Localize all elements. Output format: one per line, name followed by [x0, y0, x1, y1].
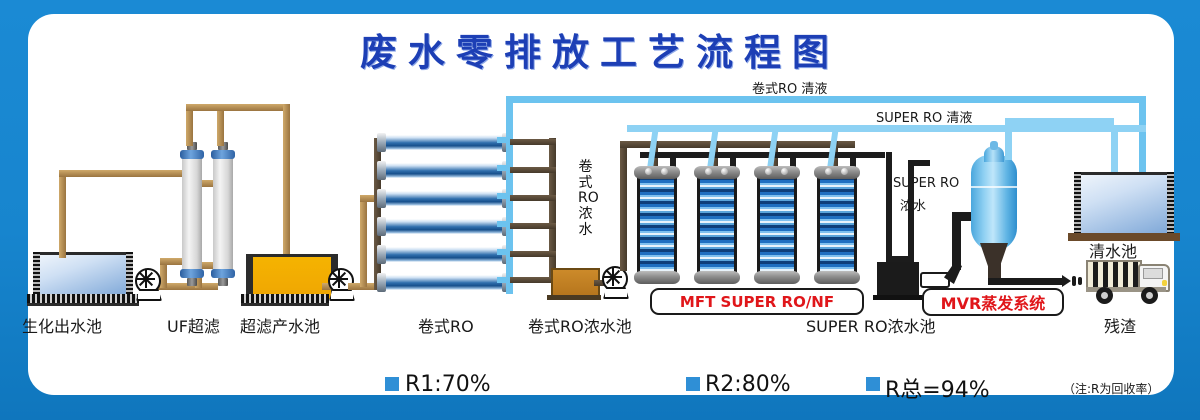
tank-rib-right [126, 252, 133, 296]
tank-rib-right [1167, 172, 1174, 234]
tank-rib-left [1074, 172, 1081, 234]
ro-vessel-3 [381, 191, 507, 206]
bio-effluent-tank-base [27, 294, 139, 306]
uf-product-tank-base [241, 294, 329, 306]
mft-bolt [645, 168, 652, 175]
uf-cap-top [211, 150, 235, 159]
ro-concentrate-branch-6 [510, 277, 556, 283]
legend-note: （注:R为回收率） [1063, 380, 1159, 397]
label-uf-ultrafiltration: UF超滤 [167, 313, 220, 337]
mft-bottom-plate [754, 271, 800, 284]
label-spiral-ro-concentrate-tank: 卷式RO浓水池 [528, 313, 632, 337]
mft-bolt [825, 168, 832, 175]
tank-body [1074, 172, 1174, 234]
residue-arrow-chevron [1072, 276, 1076, 286]
ro-vessel-1 [381, 135, 507, 150]
mft-disc-stack [817, 177, 857, 273]
residue-arrow-chevron [1078, 277, 1082, 285]
spiral-ro-permeate-label: 卷式RO 清液 [752, 78, 827, 97]
ro-vessel-4 [381, 219, 507, 234]
spiral-ro-concentrate-tank-base [547, 295, 601, 300]
super-ro-concentrate-tank [877, 262, 919, 296]
label-bio-effluent-tank: 生化出水池 [22, 313, 102, 337]
clean-water-tank [1074, 172, 1174, 234]
pipe-uf-permeate-downcomer [283, 104, 290, 254]
truck-window [1143, 268, 1163, 279]
mft-bolt [765, 168, 772, 175]
pump-base [136, 289, 162, 301]
ro-permeate-tap-3 [497, 193, 511, 199]
ro-concentrate-branch-3 [510, 195, 556, 201]
legend-text-r1: R1:70% [405, 372, 491, 397]
uf-nozzle-bottom [218, 278, 228, 286]
mft-disc-stack [757, 177, 797, 273]
mft-disc-stack [697, 177, 737, 273]
mft-bolt [661, 168, 668, 175]
mft-bolt [841, 168, 848, 175]
truck-headlight [1162, 280, 1167, 286]
mft-column-2 [694, 166, 740, 284]
uf-module-2 [213, 140, 233, 288]
uf-product-water-tank [246, 254, 338, 299]
mft-bolt [781, 168, 788, 175]
mvr-evaporator-nozzle [990, 141, 998, 150]
pipe-bio-to-uf-riser [59, 170, 66, 258]
uf-cap-bottom [180, 269, 204, 278]
mft-top-plate [754, 166, 800, 179]
truck-wheel-front-hub [1146, 292, 1153, 299]
uf-nozzle-bottom [187, 278, 197, 286]
legend-square-r1 [385, 377, 399, 391]
uf-module-1 [182, 140, 202, 288]
ro-vessel-end-left [377, 161, 386, 180]
mft-disc-stack [637, 177, 677, 273]
mvr-evaporator-band [971, 186, 1017, 188]
mvr-feed-pump-icon [920, 272, 950, 288]
pipe-uf-permeate-header [186, 104, 290, 111]
label-spiral-ro: 卷式RO [418, 313, 474, 337]
ro-permeate-tap-6 [497, 277, 511, 283]
pipe-mft-black-header [640, 152, 885, 158]
ro-concentrate-header-vertical [549, 138, 556, 283]
super-ro-concentrate-tank-base [873, 295, 923, 300]
mft-column-3 [754, 166, 800, 284]
label-residue: 残渣 [1104, 313, 1136, 337]
spiral-ro-concentrate-label: 卷式RO浓水 [578, 160, 593, 238]
ro-vessel-end-left [377, 217, 386, 236]
pipe-spiral-ro-permeate-main [506, 96, 1146, 103]
ro-concentrate-branch-2 [510, 167, 556, 173]
mft-top-plate [634, 166, 680, 179]
mft-column-4 [814, 166, 860, 284]
pump-1 [134, 268, 160, 298]
tank-body [33, 252, 133, 296]
mvr-evaporation-system-label: MVR蒸发系统 [922, 288, 1064, 316]
super-ro-concentrate-label-line1: SUPER RO [893, 176, 959, 191]
super-ro-permeate-header [627, 125, 1146, 132]
pipe-pump3-riser [620, 141, 627, 271]
ro-vessel-end-left [377, 273, 386, 292]
ro-permeate-tap-4 [497, 221, 511, 227]
legend-text-r-total: R总=94% [885, 372, 990, 404]
bio-effluent-tank [33, 252, 133, 296]
mft-bolt [721, 168, 728, 175]
residue-arrow-head [1062, 275, 1071, 287]
ro-vessel-2 [381, 163, 507, 178]
mvr-evaporator-vessel [971, 155, 1017, 251]
mft-bolt [705, 168, 712, 175]
label-uf-product-water-tank: 超滤产水池 [240, 313, 320, 337]
flow-diagram-poster: 废水零排放工艺流程图 [0, 0, 1200, 420]
mft-top-plate [694, 166, 740, 179]
ro-permeate-tap-1 [497, 137, 511, 143]
pipe-ro-feed-riser [360, 195, 367, 287]
ro-concentrate-branch-1 [510, 139, 556, 145]
uf-shell [182, 154, 202, 274]
page-title: 废水零排放工艺流程图 [0, 22, 1200, 76]
label-super-ro-concentrate-tank: SUPER RO浓水池 [806, 313, 936, 337]
pipe-super-ro-conc-tank-top [908, 160, 930, 166]
pump-base [329, 289, 355, 301]
mft-column-1 [634, 166, 680, 284]
legend-square-r2 [686, 377, 700, 391]
pipe-spiral-ro-permeate-drop [1139, 96, 1146, 184]
ro-vessel-5 [381, 247, 507, 262]
tank-rib-left [33, 252, 40, 296]
legend-square-r-total [866, 377, 880, 391]
ro-vessel-end-left [377, 189, 386, 208]
label-clean-water-tank: 清水池 [1089, 238, 1137, 262]
mft-super-ro-nf-label: MFT SUPER RO/NF [650, 288, 864, 315]
truck-wheel-rear-hub [1101, 292, 1108, 299]
mft-bottom-plate [814, 271, 860, 284]
ro-vessel-6 [381, 275, 507, 290]
ro-concentrate-branch-5 [510, 251, 556, 257]
ro-vessel-end-left [377, 133, 386, 152]
ro-vessel-end-left [377, 245, 386, 264]
pump-base [603, 287, 629, 299]
super-ro-permeate-label: SUPER RO 清液 [876, 107, 972, 126]
pipe-mvr-residue-horizontal [988, 278, 1064, 285]
uf-cap-bottom [211, 269, 235, 278]
mft-bottom-plate [694, 271, 740, 284]
uf-shell [213, 154, 233, 274]
super-ro-concentrate-label-line2: 浓水 [900, 195, 926, 214]
ro-concentrate-branch-4 [510, 223, 556, 229]
pipe-mvr-vapor-top [1005, 118, 1114, 125]
mft-top-plate [814, 166, 860, 179]
pipe-bio-to-uf-top [59, 170, 189, 177]
ro-permeate-tap-2 [497, 165, 511, 171]
residue-truck [1086, 258, 1172, 302]
mft-bottom-plate [634, 271, 680, 284]
ro-permeate-tap-5 [497, 249, 511, 255]
uf-cap-top [180, 150, 204, 159]
legend-text-r2: R2:80% [705, 372, 791, 397]
pipe-super-ro-conc-header [886, 152, 892, 260]
